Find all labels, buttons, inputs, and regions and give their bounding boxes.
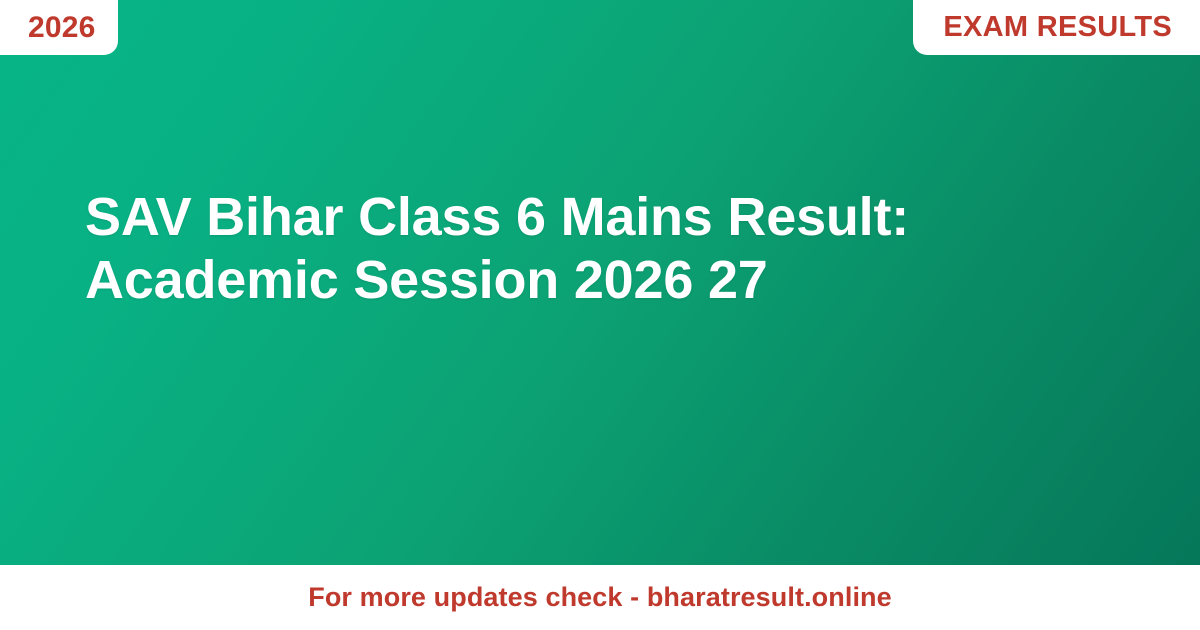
year-badge-label: 2026: [28, 13, 96, 43]
page-title: SAV Bihar Class 6 Mains Result: Academic…: [85, 186, 1115, 312]
year-badge: 2026: [0, 0, 118, 55]
page-title-line-2: Academic Session 2026 27: [85, 249, 1115, 312]
page-title-line-1: SAV Bihar Class 6 Mains Result:: [85, 186, 1115, 249]
category-badge-label: EXAM RESULTS: [943, 13, 1172, 42]
footer-bar: For more updates check - bharatresult.on…: [0, 565, 1200, 630]
footer-updates-text: For more updates check - bharatresult.on…: [308, 584, 892, 611]
category-badge: EXAM RESULTS: [913, 0, 1200, 55]
result-banner-card: 2026 EXAM RESULTS SAV Bihar Class 6 Main…: [0, 0, 1200, 630]
